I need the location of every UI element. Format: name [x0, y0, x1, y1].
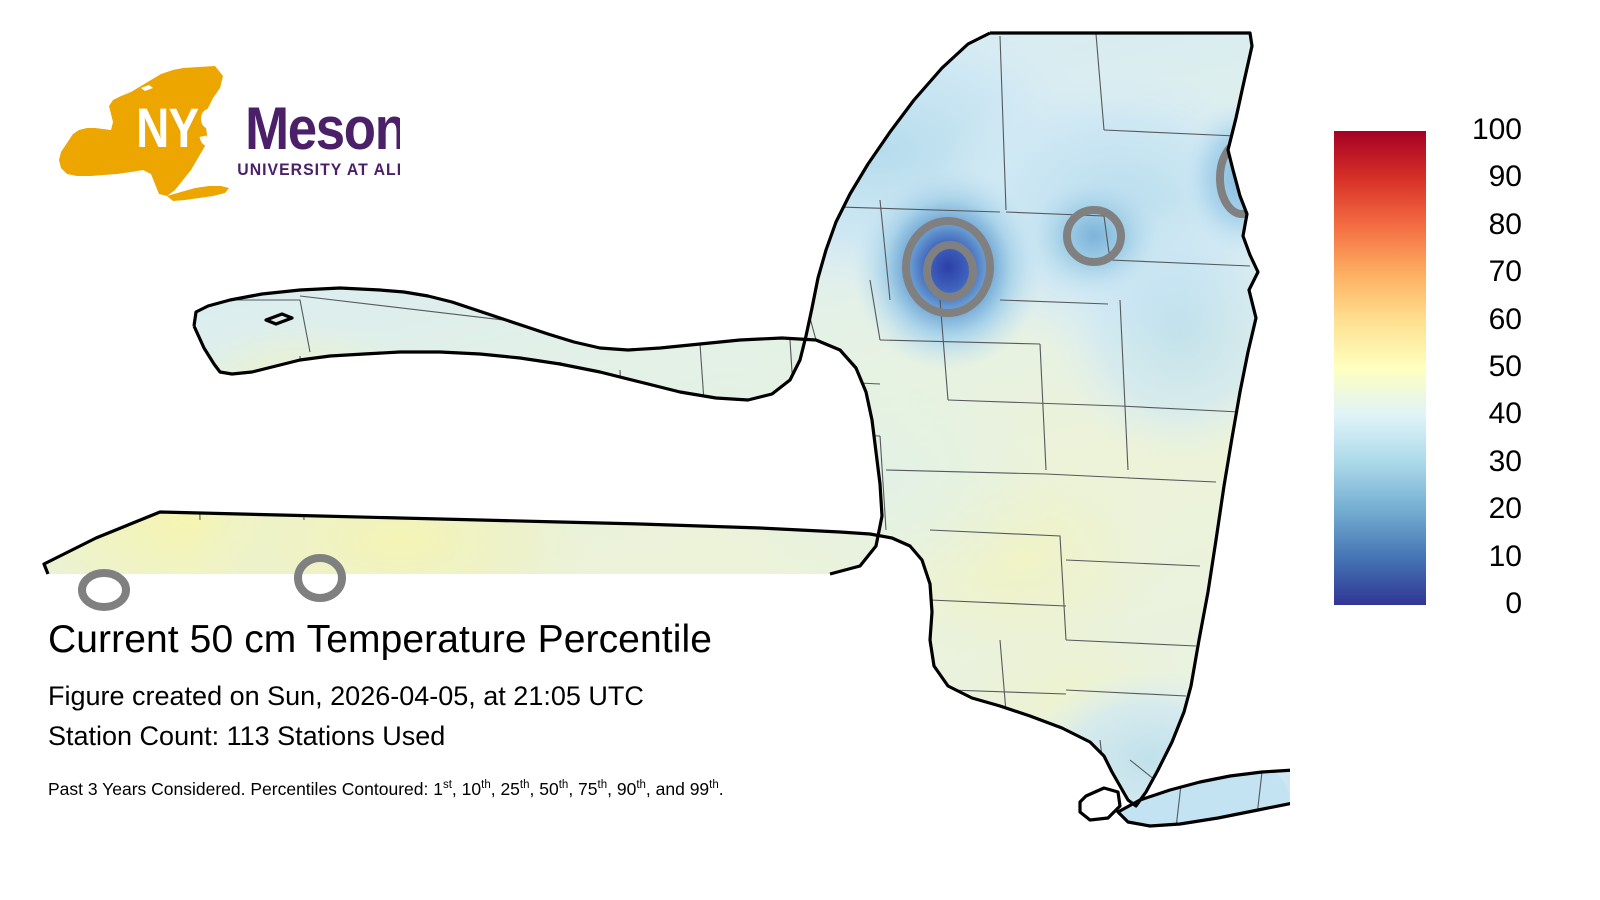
contour-level-1: 1st	[433, 779, 452, 799]
colorbar-tick-70: 70	[1430, 257, 1522, 287]
colorbar-tick-60: 60	[1430, 305, 1522, 335]
contour-ring-southern-tier-west	[82, 573, 126, 607]
colorbar-tick-40: 40	[1430, 399, 1522, 429]
colorbar-tick-50: 50	[1430, 352, 1522, 382]
colorbar-gradient	[1334, 131, 1426, 605]
nys-mesonet-logo: NYS Mesonet UNIVERSITY AT ALBANY	[55, 62, 400, 207]
colorbar-tick-100: 100	[1430, 115, 1522, 145]
contour-level-50: 50th	[539, 779, 568, 799]
colorbar-tick-80: 80	[1430, 210, 1522, 240]
colorbar-panel: 1009080706050403020100	[1330, 118, 1570, 618]
figure-created-timestamp: Figure created on Sun, 2026-04-05, at 21…	[48, 676, 1058, 716]
contour-level-90: 90th	[617, 779, 646, 799]
colorbar-tick-90: 90	[1430, 162, 1522, 192]
contour-level-25: 25th	[500, 779, 529, 799]
colorbar-tick-10: 10	[1430, 542, 1522, 572]
figure-title: Current 50 cm Temperature Percentile	[48, 618, 1058, 662]
colorbar-tick-0: 0	[1430, 589, 1522, 619]
figure-caption-block: Current 50 cm Temperature Percentile Fig…	[48, 618, 1058, 800]
colorbar-tick-labels: 1009080706050403020100	[1430, 118, 1560, 618]
colorbar-tick-30: 30	[1430, 447, 1522, 477]
contour-level-99: 99th	[690, 779, 719, 799]
colorbar-tick-20: 20	[1430, 494, 1522, 524]
figure-footnote: Past 3 Years Considered. Percentiles Con…	[48, 778, 1058, 800]
contour-level-10: 10th	[462, 779, 491, 799]
logo-text-nys: NYS	[136, 97, 228, 159]
logo-text-tagline: UNIVERSITY AT ALBANY	[237, 161, 400, 180]
logo-text-mesonet: Mesonet	[245, 95, 400, 162]
contour-level-75: 75th	[578, 779, 607, 799]
station-count-label: Station Count: 113 Stations Used	[48, 716, 1058, 756]
